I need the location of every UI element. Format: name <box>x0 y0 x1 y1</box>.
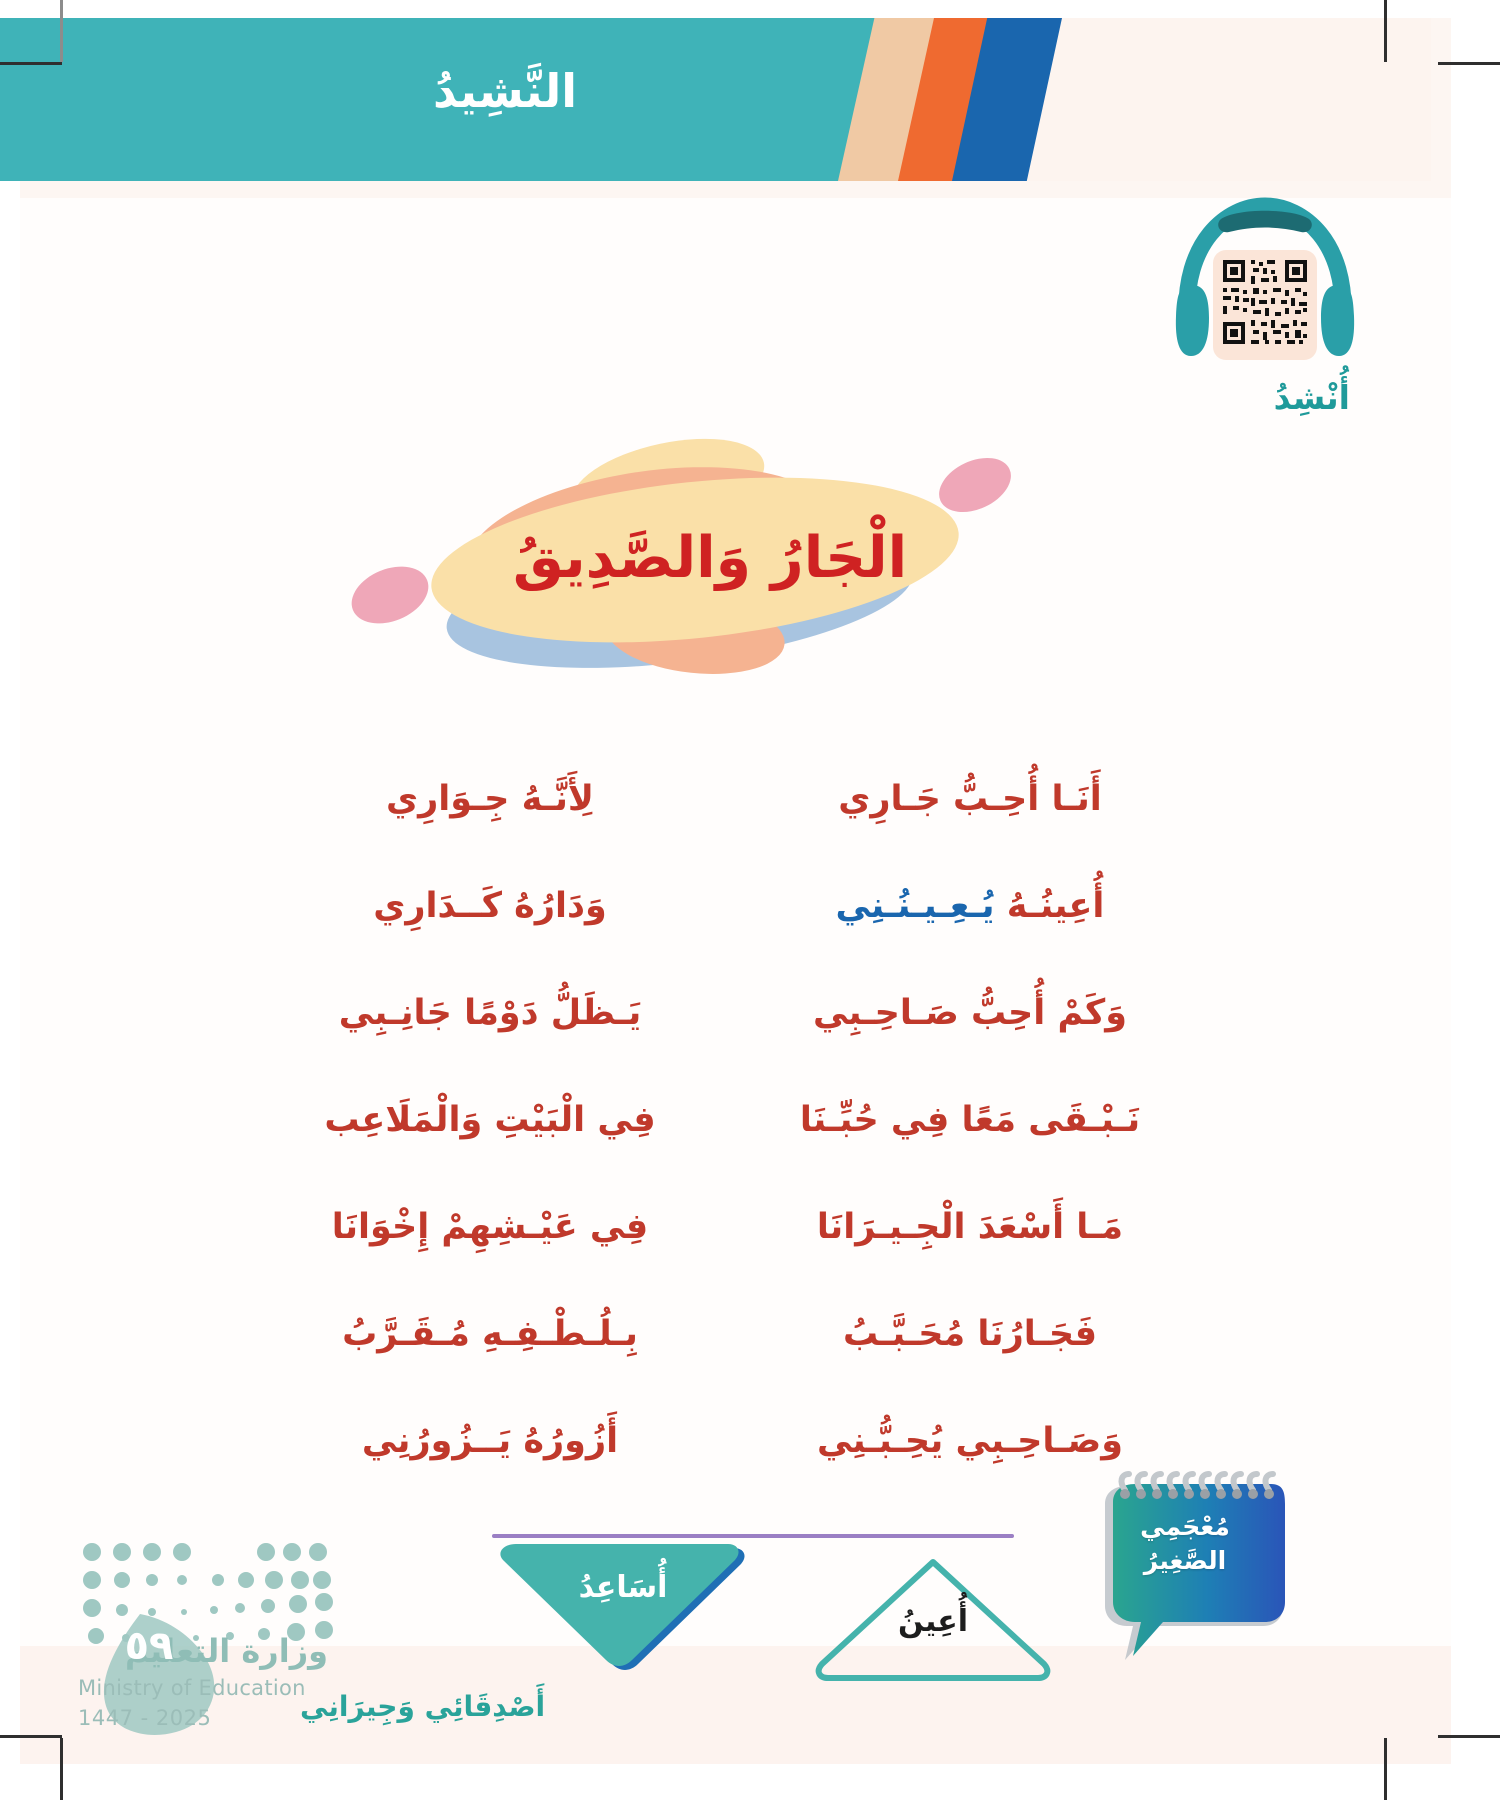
my-small-dictionary-icon[interactable]: مُعْجَمِي الصَّغِيرُ <box>1085 1468 1285 1673</box>
crop-mark-bottom-right-vertical <box>1384 1738 1387 1800</box>
verse-hemistich-right: وَكَمْ أُحِبُّ صَـاحِـبِي <box>730 993 1210 1033</box>
page-header-banner: النَّشِيدُ <box>0 18 1431 181</box>
textbook-page: النَّشِيدُ <box>0 0 1500 1800</box>
crop-mark-bottom-right-horizontal <box>1438 1735 1500 1738</box>
headphones-qr-code-icon[interactable] <box>1165 190 1365 375</box>
poem-verses: أَنَـا أُحِـبُّ جَـارِي لِأَنَّـهُ جِـوَ… <box>250 745 1210 1494</box>
verse-row: نَـبْـقَى مَعًا فِي حُبِّـنَا فِي الْبَي… <box>250 1066 1210 1173</box>
unit-title: أَصْدِقَائِي وَجِيرَانِي <box>300 1690 545 1723</box>
verse-hemistich-right: أُعِينُـهُ يُـعِـيـنُـنِي <box>730 886 1210 926</box>
crop-mark-top-right-horizontal <box>1438 62 1500 65</box>
verse-hemistich-right: مَـا أَسْعَدَ الْجِـيـرَانَا <box>730 1207 1210 1247</box>
activity-label-recite: أُنْشِدُ <box>1274 378 1350 417</box>
verse-hemistich-right: وَصَـاحِـبِي يُحِـبُّـنِي <box>730 1421 1210 1461</box>
verse-row: مَـا أَسْعَدَ الْجِـيـرَانَا فِي عَيْـشِ… <box>250 1173 1210 1280</box>
word-card-filled[interactable]: أُسَاعِدُ <box>498 1540 748 1682</box>
verse-row: وَكَمْ أُحِبُّ صَـاحِـبِي يَـظَلُّ دَوْم… <box>250 959 1210 1066</box>
crop-mark-top-left-vertical <box>60 0 63 62</box>
verse-row: أَنَـا أُحِـبُّ جَـارِي لِأَنَّـهُ جِـوَ… <box>250 745 1210 852</box>
verse-hemistich-right: فَجَـارُنَا مُحَـبَّـبُ <box>730 1314 1210 1354</box>
verse-hemistich-left: فِي عَيْـشِهِمْ إِخْوَانَا <box>250 1207 730 1247</box>
verse-word-plain: أُعِينُـهُ <box>995 886 1105 926</box>
verse-hemistich-left: يَـظَلُّ دَوْمًا جَانِـبِي <box>250 993 730 1033</box>
word-card-outlined[interactable]: أُعِينُ <box>808 1552 1058 1684</box>
crop-mark-top-left-horizontal <box>0 62 62 65</box>
verse-hemistich-right: أَنَـا أُحِـبُّ جَـارِي <box>730 779 1210 819</box>
word-card-filled-label: أُسَاعِدُ <box>498 1570 748 1605</box>
crop-mark-bottom-left-horizontal <box>0 1735 62 1738</box>
ministry-years: 2025 - 1447 <box>78 1706 328 1730</box>
dictionary-label: مُعْجَمِي الصَّغِيرُ <box>1097 1510 1273 1578</box>
verse-row: فَجَـارُنَا مُحَـبَّـبُ بِـلُـطْـفِـهِ م… <box>250 1280 1210 1387</box>
verse-hemistich-right: نَـبْـقَى مَعًا فِي حُبِّـنَا <box>730 1100 1210 1140</box>
verse-hemistich-left: بِـلُـطْـفِـهِ مُـقَـرَّبُ <box>250 1314 730 1354</box>
crop-mark-top-right-vertical <box>1384 0 1387 62</box>
verse-hemistich-left: وَدَارُهُ كَــدَارِي <box>250 886 730 926</box>
verse-hemistich-left: فِي الْبَيْتِ وَالْمَلَاعِب <box>250 1100 730 1140</box>
word-card-outlined-label: أُعِينُ <box>808 1604 1058 1639</box>
poem-title: الْجَارُ وَالصَّدِيقُ <box>350 425 1070 690</box>
verse-hemistich-left: لِأَنَّـهُ جِـوَارِي <box>250 779 730 819</box>
ministry-name-english: Ministry of Education <box>78 1676 328 1700</box>
dictionary-label-line2: الصَّغِيرُ <box>1097 1544 1273 1578</box>
verse-hemistich-left: أَزُورُهُ يَــزُورُنِي <box>250 1421 730 1461</box>
poem-title-decoration: الْجَارُ وَالصَّدِيقُ <box>350 425 1070 690</box>
verse-row: وَصَـاحِـبِي يُحِـبُّـنِي أَزُورُهُ يَــ… <box>250 1387 1210 1494</box>
section-divider <box>492 1534 1014 1538</box>
dictionary-label-line1: مُعْجَمِي <box>1097 1510 1273 1544</box>
page-title: النَّشِيدُ <box>0 18 1010 181</box>
verse-row: أُعِينُـهُ يُـعِـيـنُـنِي وَدَارُهُ كَــ… <box>250 852 1210 959</box>
verse-word-highlighted: يُـعِـيـنُـنِي <box>836 886 995 926</box>
page-number: ٥٩ <box>94 1622 204 1670</box>
crop-mark-bottom-left-vertical <box>60 1738 63 1800</box>
